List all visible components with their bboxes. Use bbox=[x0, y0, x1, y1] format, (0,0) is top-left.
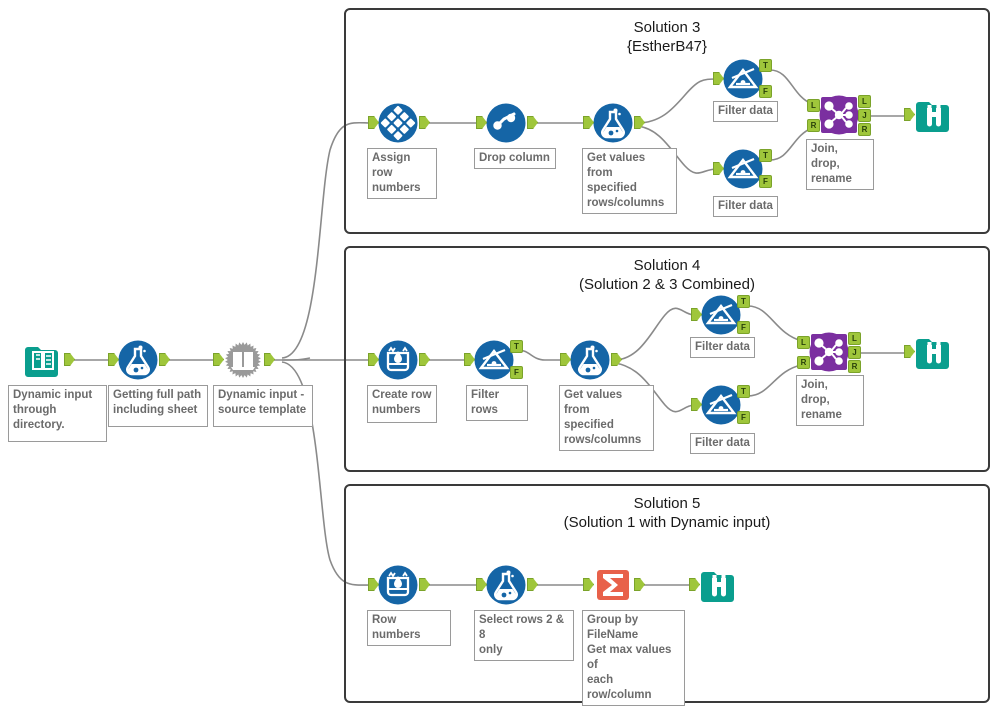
false-anchor-t4_filter_a[interactable]: F bbox=[737, 321, 750, 334]
tool-t_dyn_src[interactable] bbox=[222, 339, 264, 381]
right-output-anchor-t4_join[interactable]: R bbox=[848, 360, 861, 373]
true-anchor-t4_filter_b[interactable]: T bbox=[737, 385, 750, 398]
join-icon bbox=[818, 94, 860, 136]
note-n5_summarize[interactable]: Group by FileName Get max values of each… bbox=[582, 610, 685, 706]
join-output-anchor-t3_join[interactable]: J bbox=[858, 109, 871, 122]
right-output-anchor-t3_join[interactable]: R bbox=[858, 123, 871, 136]
false-anchor-t3_filter_b[interactable]: F bbox=[759, 175, 772, 188]
note-n4_getvals[interactable]: Get values from specified rows/columns bbox=[559, 385, 654, 451]
tool-t3_filter_a[interactable] bbox=[722, 58, 764, 100]
note-n3_filter_a[interactable]: Filter data bbox=[713, 101, 778, 122]
select-check-icon bbox=[485, 102, 527, 144]
tool-t4_filter[interactable] bbox=[473, 339, 515, 381]
container-title-solution3: Solution 3 {EstherB47} bbox=[346, 18, 988, 56]
left-output-anchor-t3_join[interactable]: L bbox=[858, 95, 871, 108]
true-anchor-t4_filter_a[interactable]: T bbox=[737, 295, 750, 308]
false-anchor-t4_filter_b[interactable]: F bbox=[737, 411, 750, 424]
tool-t4_browse[interactable] bbox=[913, 331, 955, 373]
dynamic-input-icon bbox=[222, 339, 264, 381]
browse-binoculars-icon bbox=[913, 94, 955, 136]
note-n3_filter_b[interactable]: Filter data bbox=[713, 196, 778, 217]
tool-t5_rownum[interactable] bbox=[377, 564, 419, 606]
workflow-canvas: Solution 3 {EstherB47}Solution 4 (Soluti… bbox=[0, 0, 999, 711]
note-n_dyn_src[interactable]: Dynamic input - source template bbox=[213, 385, 313, 427]
note-n3_dropcol[interactable]: Drop column bbox=[474, 148, 556, 169]
note-n4_filter_a[interactable]: Filter data bbox=[690, 337, 755, 358]
output-anchor-t_dyn_src[interactable] bbox=[264, 353, 275, 366]
right-input-anchor-t4_join[interactable]: R bbox=[797, 356, 810, 369]
directory-input-icon bbox=[22, 339, 64, 381]
tile-bucket-icon bbox=[377, 564, 419, 606]
tile-bucket-icon bbox=[377, 339, 419, 381]
note-n4_filter_b[interactable]: Filter data bbox=[690, 433, 755, 454]
filter-icon bbox=[700, 384, 742, 426]
tool-t4_filter_b[interactable] bbox=[700, 384, 742, 426]
tool-t5_browse[interactable] bbox=[698, 564, 740, 606]
left-input-anchor-t3_join[interactable]: L bbox=[807, 99, 820, 112]
tool-t3_getvals[interactable] bbox=[592, 102, 634, 144]
note-n3_join[interactable]: Join, drop, rename bbox=[806, 139, 874, 190]
note-n5_rownum[interactable]: Row numbers bbox=[367, 610, 451, 646]
tool-t4_filter_a[interactable] bbox=[700, 294, 742, 336]
note-n_dyn_dir[interactable]: Dynamic input through directory. bbox=[8, 385, 107, 442]
false-anchor-t3_filter_a[interactable]: F bbox=[759, 85, 772, 98]
tool-t3_rownum[interactable] bbox=[377, 102, 419, 144]
right-input-anchor-t3_join[interactable]: R bbox=[807, 119, 820, 132]
filter-icon bbox=[700, 294, 742, 336]
tool-t5_select[interactable] bbox=[485, 564, 527, 606]
tool-t4_join[interactable] bbox=[808, 331, 850, 373]
container-solution4[interactable]: Solution 4 (Solution 2 & 3 Combined) bbox=[344, 246, 990, 472]
note-n3_rownum[interactable]: Assign row numbers bbox=[367, 148, 437, 199]
left-input-anchor-t4_join[interactable]: L bbox=[797, 336, 810, 349]
output-anchor-t_dyn_dir[interactable] bbox=[64, 353, 75, 366]
record-id-icon bbox=[377, 102, 419, 144]
tool-t_fullpath[interactable] bbox=[117, 339, 159, 381]
note-n4_rownum[interactable]: Create row numbers bbox=[367, 385, 437, 423]
wire-2[interactable] bbox=[272, 358, 310, 360]
join-output-anchor-t4_join[interactable]: J bbox=[848, 346, 861, 359]
tool-t4_rownum[interactable] bbox=[377, 339, 419, 381]
browse-binoculars-icon bbox=[913, 331, 955, 373]
output-anchor-t_fullpath[interactable] bbox=[159, 353, 170, 366]
note-n5_select[interactable]: Select rows 2 & 8 only bbox=[474, 610, 574, 661]
filter-icon bbox=[722, 148, 764, 190]
tool-t3_join[interactable] bbox=[818, 94, 860, 136]
tool-t4_getvals[interactable] bbox=[569, 339, 611, 381]
formula-flask-icon bbox=[117, 339, 159, 381]
tool-t3_filter_b[interactable] bbox=[722, 148, 764, 190]
browse-binoculars-icon bbox=[698, 564, 740, 606]
formula-flask-icon bbox=[592, 102, 634, 144]
true-anchor-t3_filter_a[interactable]: T bbox=[759, 59, 772, 72]
formula-flask-icon bbox=[569, 339, 611, 381]
true-anchor-t4_filter[interactable]: T bbox=[510, 340, 523, 353]
false-anchor-t4_filter[interactable]: F bbox=[510, 366, 523, 379]
note-n3_getvals[interactable]: Get values from specified rows/columns bbox=[582, 148, 677, 214]
note-n_fullpath[interactable]: Getting full path including sheet bbox=[108, 385, 208, 427]
join-icon bbox=[808, 331, 850, 373]
formula-flask-icon bbox=[485, 564, 527, 606]
left-output-anchor-t4_join[interactable]: L bbox=[848, 332, 861, 345]
note-n4_join[interactable]: Join, drop, rename bbox=[796, 375, 864, 426]
filter-icon bbox=[722, 58, 764, 100]
note-n4_filter[interactable]: Filter rows bbox=[466, 385, 528, 421]
filter-icon bbox=[473, 339, 515, 381]
tool-t5_summarize[interactable] bbox=[592, 564, 634, 606]
container-title-solution5: Solution 5 (Solution 1 with Dynamic inpu… bbox=[346, 494, 988, 532]
tool-t3_dropcol[interactable] bbox=[485, 102, 527, 144]
tool-t3_browse[interactable] bbox=[913, 94, 955, 136]
true-anchor-t3_filter_b[interactable]: T bbox=[759, 149, 772, 162]
summarize-sigma-icon bbox=[592, 564, 634, 606]
tool-t_dyn_dir[interactable] bbox=[22, 339, 64, 381]
container-title-solution4: Solution 4 (Solution 2 & 3 Combined) bbox=[346, 256, 988, 294]
